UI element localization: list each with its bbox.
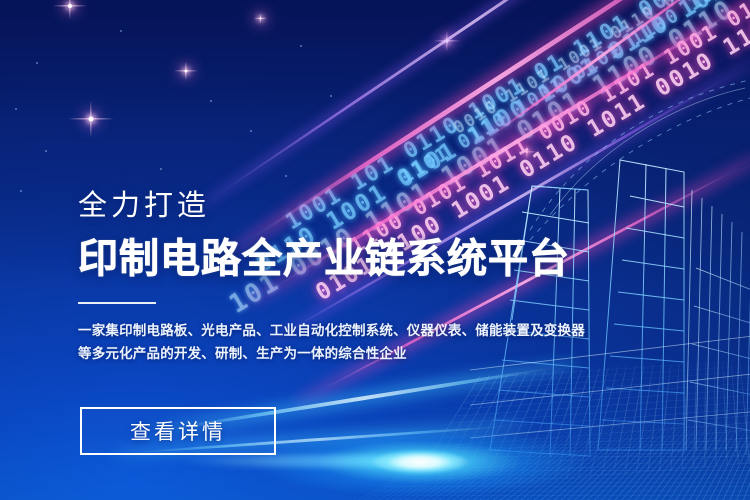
star-dust-7: [250, 130, 252, 132]
subtitle-line-1: 一家集印制电路板、光电产品、工业自动化控制系统、仪器仪表、储能装置及变换器: [78, 319, 698, 342]
star-sparkle-5-icon: [518, 143, 536, 161]
star-sparkle-2-icon: [174, 59, 198, 83]
star-dust-8: [20, 190, 22, 192]
subtitle-line-2: 等多元化产品的开发、研制、生产为一体的综合性企业: [78, 342, 698, 365]
star-dust-4: [45, 150, 47, 152]
title-divider: [78, 302, 156, 304]
star-dust-5: [160, 168, 162, 170]
star-dust-6: [300, 45, 302, 47]
hero-content: 全力打造 印制电路全产业链系统平台 一家集印制电路板、光电产品、工业自动化控制系…: [78, 192, 698, 365]
star-sparkle-6-icon: [254, 12, 267, 25]
hero-banner: 1001 101 0110 1001 01 1101 0010 1100 101…: [0, 0, 750, 500]
star-sparkle-3-icon: [68, 96, 114, 142]
eyebrow-text: 全力打造: [78, 192, 698, 221]
page-title: 印制电路全产业链系统平台: [78, 238, 698, 281]
star-dust-3: [210, 100, 212, 102]
light-burst-core: [372, 449, 468, 475]
view-details-button[interactable]: 查看详情: [80, 407, 276, 455]
star-dust-12: [285, 175, 287, 177]
star-dust-11: [15, 108, 17, 110]
star-sparkle-1-icon: [53, 0, 87, 23]
subtitle-block: 一家集印制电路板、光电产品、工业自动化控制系统、仪器仪表、储能装置及变换器 等多…: [78, 319, 698, 365]
star-dust-2: [120, 30, 122, 32]
star-sparkle-4-icon: [434, 28, 460, 54]
star-dust-1: [36, 62, 38, 64]
star-dust-9: [330, 95, 332, 97]
